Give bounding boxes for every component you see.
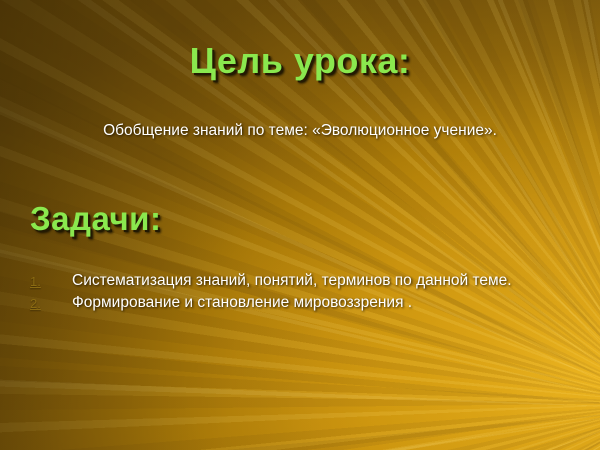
- slide-subtitle: Обобщение знаний по теме: «Эволюционное …: [0, 122, 600, 140]
- presentation-slide: Цель урока: Обобщение знаний по теме: «Э…: [0, 0, 600, 450]
- list-item-label: Формирование и становление мировоззрения…: [72, 294, 548, 312]
- page-title: Цель урока:: [0, 40, 600, 82]
- list-item-marker: 1.: [30, 273, 52, 291]
- task-list: 1. Систематизация знаний, понятий, терми…: [28, 272, 548, 316]
- list-item-label: Систематизация знаний, понятий, терминов…: [72, 272, 548, 290]
- list-item: 2. Формирование и становление мировоззре…: [28, 294, 548, 312]
- list-item: 1. Систематизация знаний, понятий, терми…: [28, 272, 548, 290]
- section-heading-tasks: Задачи:: [30, 200, 161, 238]
- slide-content: Цель урока: Обобщение знаний по теме: «Э…: [0, 0, 600, 450]
- list-item-marker: 2.: [30, 295, 52, 313]
